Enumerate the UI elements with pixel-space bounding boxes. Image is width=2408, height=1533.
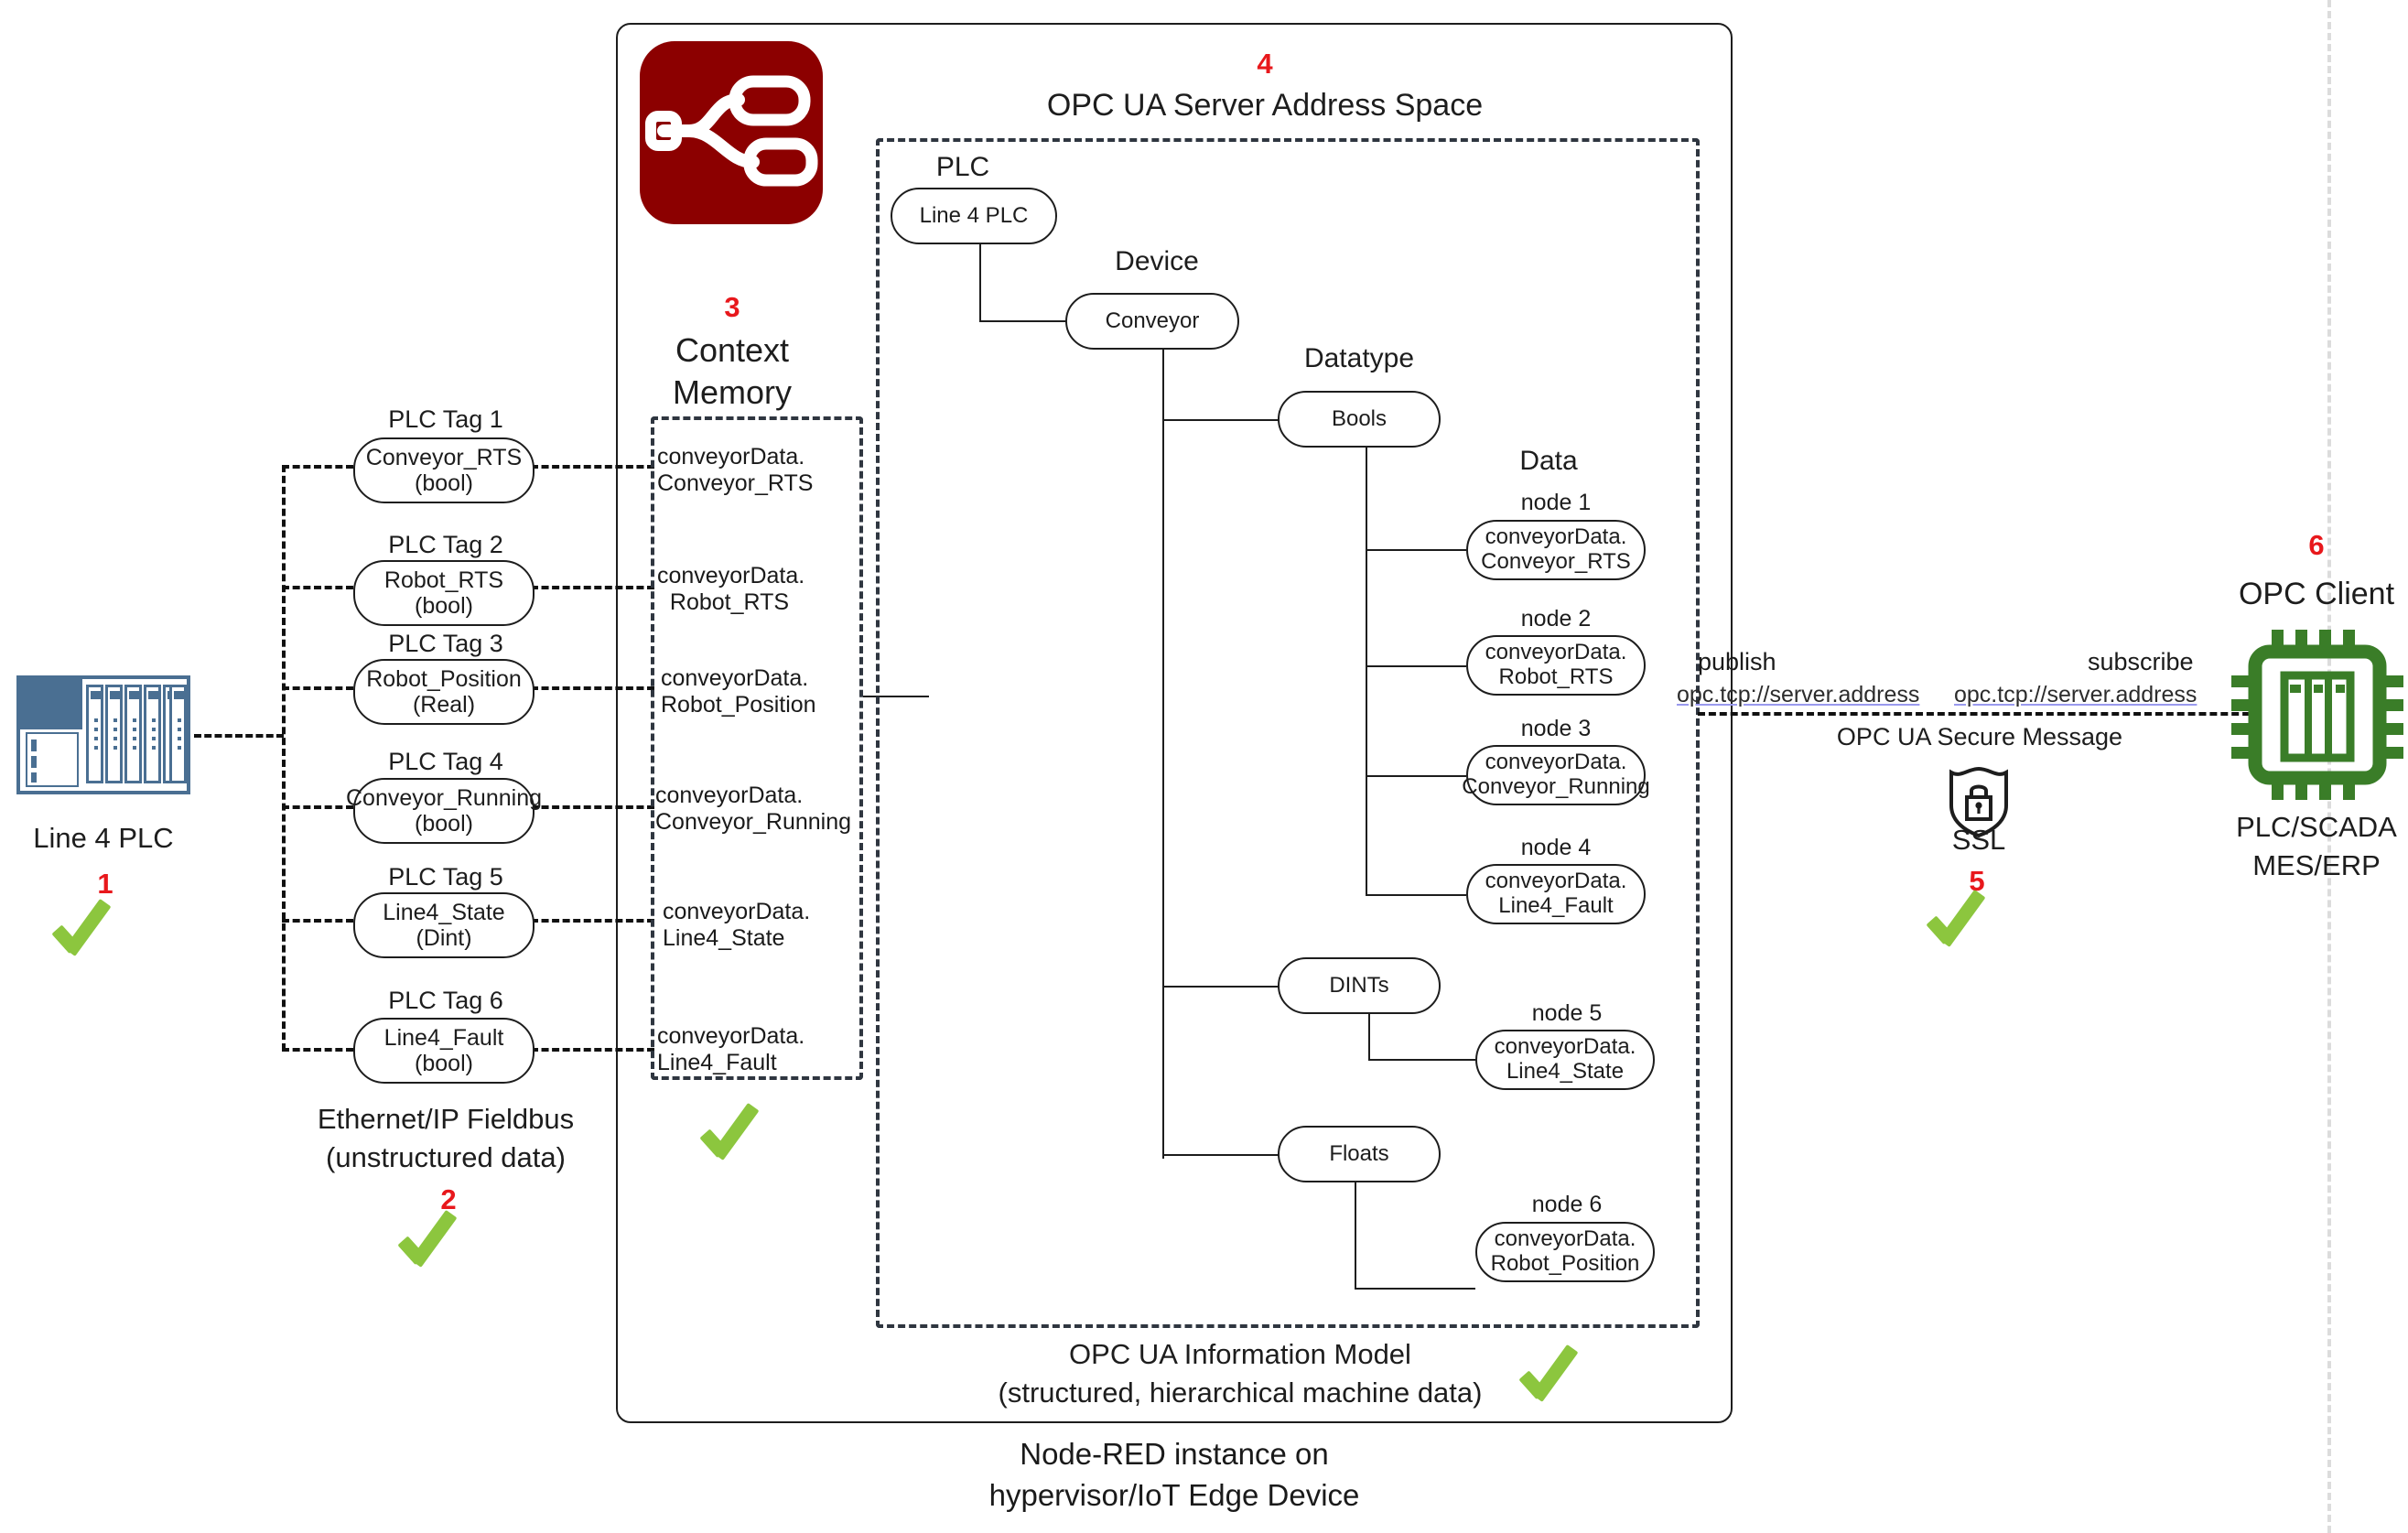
context-memory-title-line2: Memory xyxy=(673,373,792,412)
data-node-caption-5: node 5 xyxy=(1532,1000,1602,1027)
ssl-label: SSL xyxy=(1952,824,2006,857)
data-node-3[interactable]: conveyorData.Conveyor_Running xyxy=(1466,745,1646,805)
step-number-4: 4 xyxy=(1257,48,1272,81)
tag-to-context-6 xyxy=(531,1048,654,1052)
plc-tag-name-4: Conveyor_Running xyxy=(346,785,542,811)
check-mark-4 xyxy=(1524,1338,1603,1417)
data-node-caption-3: node 3 xyxy=(1521,716,1591,742)
check-mark-5 xyxy=(1931,883,2010,962)
plc-tag-caption-6: PLC Tag 6 xyxy=(388,987,503,1015)
plc-to-bus-line xyxy=(194,734,284,738)
plc-tag-node-1[interactable]: Conveyor_RTS(bool) xyxy=(353,437,535,503)
context-entry-3: conveyorData.Robot_Position xyxy=(661,665,816,718)
bus-branch-2 xyxy=(282,586,353,589)
address-space-title: OPC UA Server Address Space xyxy=(1047,88,1483,124)
plc-tag-type-4: (bool) xyxy=(415,811,473,837)
context-entry-1: conveyorData.Conveyor_RTS xyxy=(657,444,813,497)
plc-to-conveyor-h xyxy=(979,320,1066,322)
plc-label: Line 4 PLC xyxy=(33,822,173,855)
context-entry-6: conveyorData.Line4_Fault xyxy=(657,1023,804,1076)
check-mark-2 xyxy=(403,1204,481,1282)
data-node-2[interactable]: conveyorData.Robot_RTS xyxy=(1466,635,1646,696)
tag-to-context-5 xyxy=(531,919,654,923)
context-memory-box xyxy=(651,416,863,1080)
data-node-5[interactable]: conveyorData.Line4_State xyxy=(1475,1030,1655,1090)
plc-tag-node-6[interactable]: Line4_Fault(bool) xyxy=(353,1018,535,1084)
plc-rack-icon xyxy=(16,675,190,794)
opc-client-caption-line1: PLC/SCADA xyxy=(2236,811,2397,844)
opc-client-title: OPC Client xyxy=(2239,577,2394,612)
diagram-canvas: Node-RED instance on hypervisor/IoT Edge… xyxy=(0,0,2408,1533)
node-red-logo xyxy=(640,41,823,224)
plc-tag-caption-2: PLC Tag 2 xyxy=(388,531,503,559)
plc-tag-name-6: Line4_Fault xyxy=(384,1025,504,1051)
step-number-3: 3 xyxy=(724,291,740,324)
bus-branch-5 xyxy=(282,919,353,923)
conveyor-to-dints-h xyxy=(1162,986,1281,988)
data-node-caption-4: node 4 xyxy=(1521,835,1591,861)
container-caption-line1: Node-RED instance on xyxy=(1020,1437,1329,1472)
fieldbus-label-line1: Ethernet/IP Fieldbus xyxy=(318,1103,574,1136)
plc-tag-node-5[interactable]: Line4_State(Dint) xyxy=(353,892,535,958)
bools-to-node4-h xyxy=(1366,894,1466,896)
plc-tag-node-2[interactable]: Robot_RTS(bool) xyxy=(353,560,535,626)
dints-to-node5-v xyxy=(1368,1014,1370,1061)
plc-tag-type-6: (bool) xyxy=(415,1051,473,1076)
publish-label: publish xyxy=(1698,648,1776,676)
group-label-datatype: Datatype xyxy=(1304,343,1414,374)
bools-trunk-v xyxy=(1366,448,1367,896)
context-entry-4: conveyorData.Conveyor_Running xyxy=(655,783,851,836)
check-mark-1 xyxy=(57,892,135,971)
fieldbus-trunk-line xyxy=(282,465,286,1051)
subscribe-url: opc.tcp://server.address xyxy=(1954,682,2197,708)
tag-to-context-4 xyxy=(531,805,654,809)
data-node-1[interactable]: conveyorData.Conveyor_RTS xyxy=(1466,520,1646,580)
data-node-caption-6: node 6 xyxy=(1532,1192,1602,1218)
plc-tag-name-2: Robot_RTS xyxy=(384,567,503,593)
plc-tag-node-3[interactable]: Robot_Position(Real) xyxy=(353,659,535,725)
subscribe-label: subscribe xyxy=(2088,648,2194,676)
plc-tag-name-1: Conveyor_RTS xyxy=(366,445,522,470)
tag-to-context-3 xyxy=(531,686,654,690)
plc-tag-caption-4: PLC Tag 4 xyxy=(388,748,503,776)
floats-to-node6-h xyxy=(1355,1288,1475,1290)
bools-to-node2-h xyxy=(1366,665,1466,667)
plc-tag-caption-5: PLC Tag 5 xyxy=(388,863,503,891)
transport-dashed-line xyxy=(1698,712,2261,716)
info-model-footer-line2: (structured, hierarchical machine data) xyxy=(999,1376,1483,1409)
tag-to-context-1 xyxy=(531,465,654,469)
bools-to-node1-h xyxy=(1366,549,1466,551)
container-caption-line2: hypervisor/IoT Edge Device xyxy=(989,1478,1360,1513)
data-node-caption-1: node 1 xyxy=(1521,490,1591,516)
context-entry-2: conveyorData. Robot_RTS xyxy=(657,563,804,616)
plc-to-conveyor-v xyxy=(979,244,981,322)
conveyor-to-bools-h xyxy=(1162,419,1281,421)
plc-tag-name-5: Line4_State xyxy=(383,900,504,925)
data-node-4[interactable]: conveyorData.Line4_Fault xyxy=(1466,864,1646,924)
plc-tag-type-2: (bool) xyxy=(415,593,473,619)
group-label-data: Data xyxy=(1519,446,1577,477)
floats-to-node6-v xyxy=(1355,1182,1356,1290)
datatype-node-dints[interactable]: DINTs xyxy=(1278,957,1441,1014)
dints-to-node5-h xyxy=(1368,1059,1475,1061)
info-model-footer-line1: OPC UA Information Model xyxy=(1069,1338,1411,1371)
bus-branch-3 xyxy=(282,686,353,690)
group-label-device: Device xyxy=(1115,246,1199,277)
opc-client-caption-line2: MES/ERP xyxy=(2252,849,2381,882)
context-entry-5: conveyorData.Line4_State xyxy=(663,899,810,952)
plc-tag-caption-3: PLC Tag 3 xyxy=(388,630,503,658)
conveyor-trunk-v xyxy=(1162,350,1164,1159)
check-mark-3 xyxy=(705,1096,783,1175)
datatype-node-bools[interactable]: Bools xyxy=(1278,391,1441,448)
plc-tag-type-3: (Real) xyxy=(413,692,475,718)
secure-message-label: OPC UA Secure Message xyxy=(1837,723,2122,751)
plc-tag-node-4[interactable]: Conveyor_Running(bool) xyxy=(353,778,535,844)
conveyor-to-floats-h xyxy=(1162,1154,1281,1156)
address-space-plc-node[interactable]: Line 4 PLC xyxy=(891,188,1057,244)
bus-branch-6 xyxy=(282,1048,353,1052)
tag-to-context-2 xyxy=(531,586,654,589)
datatype-node-floats[interactable]: Floats xyxy=(1278,1126,1441,1182)
context-memory-title-line1: Context xyxy=(675,331,789,370)
plc-tag-type-5: (Dint) xyxy=(416,925,471,951)
bools-to-node3-h xyxy=(1366,775,1466,777)
data-node-6[interactable]: conveyorData.Robot_Position xyxy=(1475,1222,1655,1282)
bus-branch-4 xyxy=(282,805,353,809)
group-label-plc: PLC xyxy=(936,152,989,183)
plc-tag-caption-1: PLC Tag 1 xyxy=(388,405,503,434)
fieldbus-label-line2: (unstructured data) xyxy=(326,1141,566,1174)
plc-tag-type-1: (bool) xyxy=(415,470,473,496)
data-node-caption-2: node 2 xyxy=(1521,606,1591,632)
address-space-device-node[interactable]: Conveyor xyxy=(1065,293,1239,350)
step-number-6: 6 xyxy=(2308,529,2324,562)
plc-tag-name-3: Robot_Position xyxy=(366,666,522,692)
bus-branch-1 xyxy=(282,465,353,469)
cpu-chip-icon xyxy=(2231,630,2403,800)
publish-url: opc.tcp://server.address xyxy=(1677,682,1919,708)
